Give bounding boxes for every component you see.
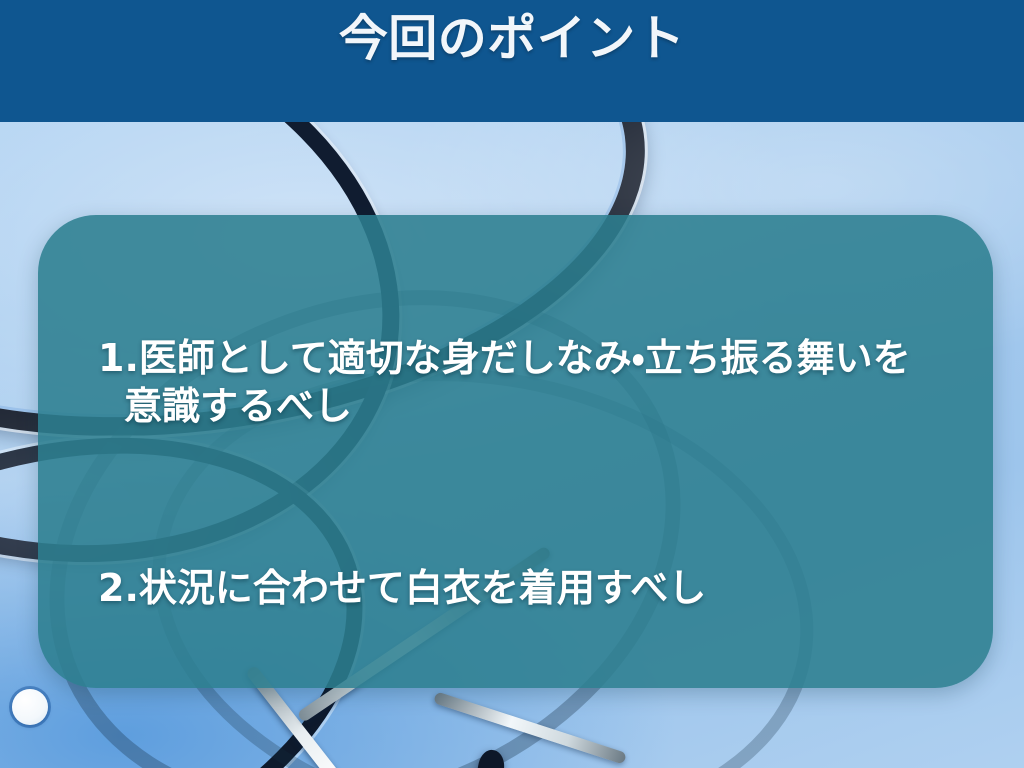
point-number: 1. — [98, 336, 139, 380]
binaural-metal-tube-icon-3 — [433, 691, 627, 764]
list-item: 3.感染防御にも配慮すべし — [68, 649, 953, 688]
list-item: 2.状況に合わせて白衣を着用すべし — [68, 516, 953, 613]
points-card: 1.医師として適切な身だしなみ・立ち振る舞いを 意識するべし 2.状況に合わせて… — [38, 215, 993, 688]
point-number: 2. — [98, 566, 139, 610]
slide: 今回のポイント 1.医師として適切な身だしなみ・立ち振る舞いを 意識するべし 2… — [0, 0, 1024, 768]
page-title: 今回のポイント — [0, 14, 1024, 63]
title-band: 今回のポイント — [0, 0, 1024, 122]
ear-tip-icon — [475, 748, 508, 768]
point-text: 状況に合わせて白衣を着用すべし — [139, 566, 706, 610]
list-item: 1.医師として適切な身だしなみ・立ち振る舞いを 意識するべし — [68, 285, 953, 480]
point-text: 医師として適切な身だしなみ・立ち振る舞いを — [139, 336, 911, 380]
water-droplet-icon — [12, 689, 48, 725]
points-list: 1.医師として適切な身だしなみ・立ち振る舞いを 意識するべし 2.状況に合わせて… — [38, 215, 993, 688]
point-text-line2: 意識するべし — [98, 382, 953, 431]
